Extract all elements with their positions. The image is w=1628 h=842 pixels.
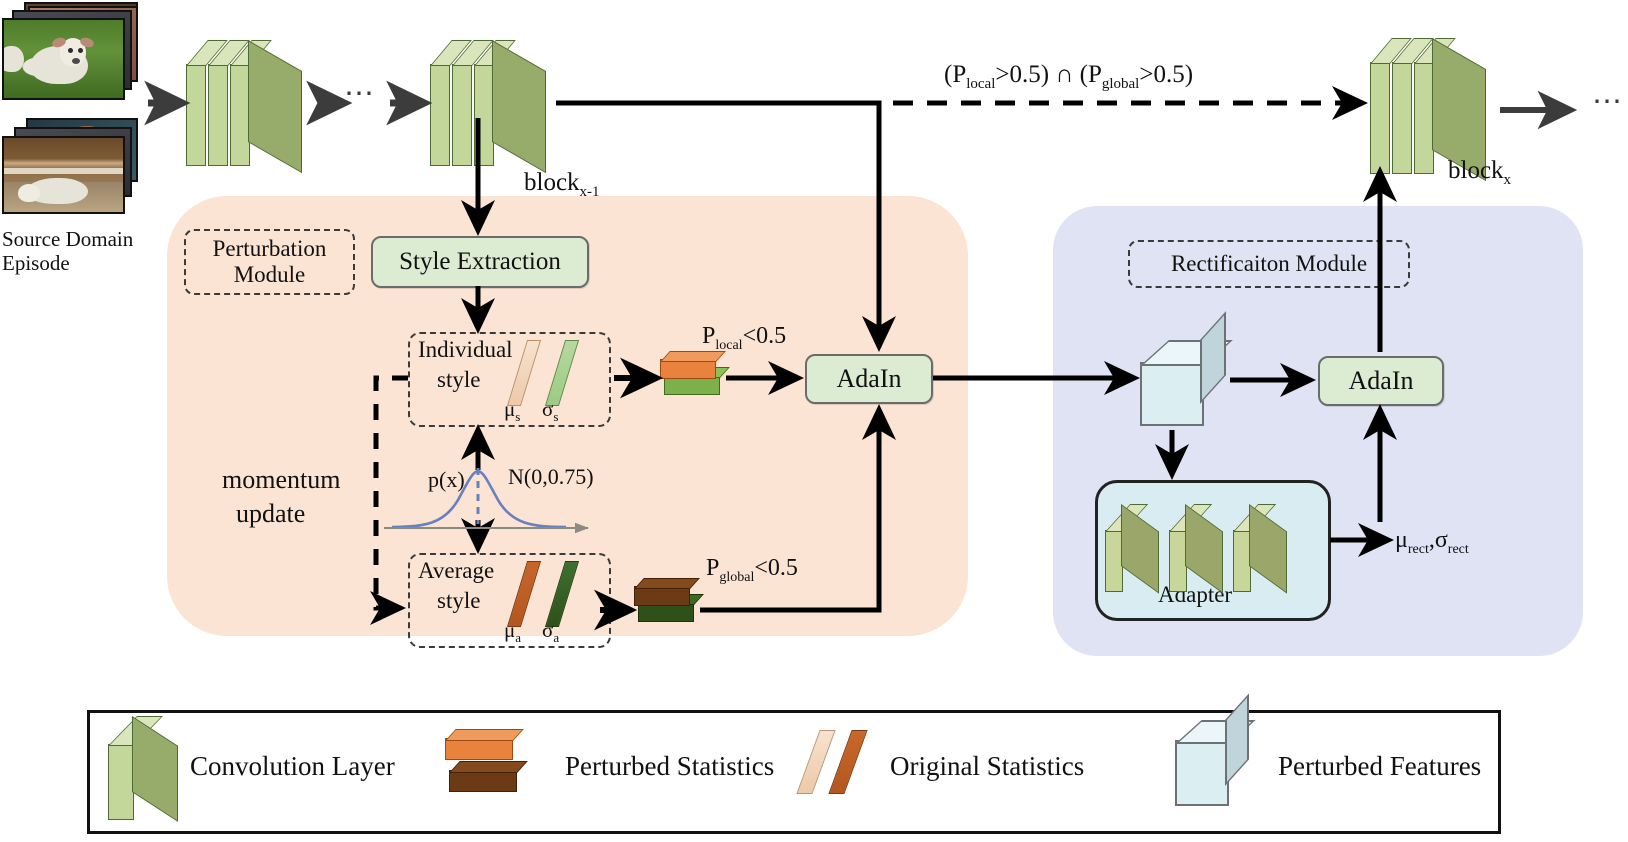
average-sigma-stick bbox=[551, 561, 575, 625]
individual-sigma-label: σs bbox=[542, 398, 558, 424]
legend-icon-perturbed-features bbox=[1175, 720, 1265, 812]
adain-perturbation-box[interactable]: AdaIn bbox=[805, 354, 933, 404]
legend-icon-original-statistics bbox=[800, 730, 890, 800]
conv-block-1 bbox=[186, 20, 316, 170]
individual-style-line1: Individual bbox=[418, 338, 513, 362]
style-extraction-box[interactable]: Style Extraction bbox=[371, 236, 589, 288]
backbone-ellipsis: ⋯ bbox=[344, 78, 376, 110]
average-sigma-label: σa bbox=[542, 619, 559, 645]
rectification-module-label-text: Rectificaiton Module bbox=[1171, 251, 1367, 277]
p-local-label: Plocal<0.5 bbox=[702, 324, 786, 353]
momentum-update-line2: update bbox=[236, 500, 305, 527]
adain-rectification-box[interactable]: AdaIn bbox=[1318, 356, 1444, 406]
block-next-label: blockx bbox=[1448, 158, 1511, 189]
individual-mu-label: μs bbox=[504, 398, 520, 424]
conv-block-next bbox=[1370, 18, 1500, 178]
legend-label-perturbed-features: Perturbed Features bbox=[1278, 752, 1481, 780]
block-prev-label: blockx-1 bbox=[524, 170, 600, 201]
gaussian-px-label: p(x) bbox=[428, 468, 465, 491]
p-global-label: Pglobal<0.5 bbox=[706, 556, 798, 585]
legend-label-convolution-layer: Convolution Layer bbox=[190, 752, 395, 780]
source-caption-line2: Episode bbox=[2, 252, 70, 274]
average-style-line1: Average bbox=[418, 559, 494, 583]
adain-rectification-label: AdaIn bbox=[1349, 366, 1414, 396]
average-mu-stick bbox=[513, 561, 537, 625]
style-extraction-label: Style Extraction bbox=[399, 248, 561, 276]
legend-label-perturbed-statistics: Perturbed Statistics bbox=[565, 752, 774, 780]
perturbed-statistics-global bbox=[634, 580, 698, 628]
legend-label-original-statistics: Original Statistics bbox=[890, 752, 1084, 780]
momentum-update-line1: momentum bbox=[222, 466, 340, 493]
average-mu-label: μa bbox=[504, 619, 521, 645]
figure-root: Source Domain Episode bbox=[0, 0, 1628, 842]
perturbation-module-label-line1: Perturbation bbox=[213, 236, 327, 262]
rect-stats-label: μrect,σrect bbox=[1395, 528, 1469, 557]
adain-perturbation-label: AdaIn bbox=[837, 364, 902, 394]
rectification-module-label: Rectificaiton Module bbox=[1128, 240, 1410, 288]
individual-style-line2: style bbox=[437, 368, 480, 392]
individual-mu-stick bbox=[513, 340, 537, 404]
gaussian-normal-label: N(0,0.75) bbox=[508, 465, 594, 488]
perturbation-module-label-line2: Module bbox=[234, 262, 306, 288]
gate-condition-label: (Plocal>0.5) ∩ (Pglobal>0.5) bbox=[944, 62, 1193, 93]
conv-block-prev bbox=[430, 20, 560, 170]
perturbation-module-label: Perturbation Module bbox=[184, 229, 355, 295]
source-episode-images-bottom bbox=[0, 118, 150, 228]
backbone-ellipsis-right: ⋯ bbox=[1592, 86, 1624, 118]
perturbed-statistics-local bbox=[660, 355, 724, 403]
average-style-line2: style bbox=[437, 589, 480, 613]
adapter-conv-layers bbox=[1105, 492, 1315, 592]
individual-sigma-stick bbox=[551, 340, 575, 404]
source-caption-line1: Source Domain bbox=[2, 228, 133, 250]
legend-icon-perturbed-statistics bbox=[445, 730, 545, 800]
perturbed-features-cube bbox=[1140, 340, 1226, 426]
